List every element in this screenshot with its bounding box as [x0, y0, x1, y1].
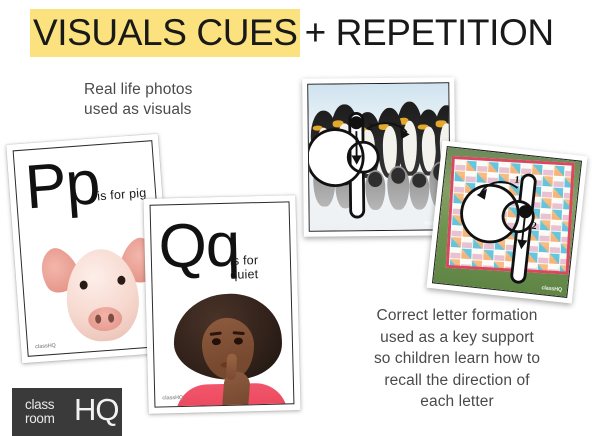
poster-phrase-pp: is for pig: [97, 186, 147, 204]
pig-nostril-right: [108, 313, 115, 322]
penguin-beak: [436, 121, 446, 127]
logo-line-class: class: [25, 398, 77, 412]
penguin-chick: [387, 166, 409, 210]
child-eye-right: [234, 338, 243, 345]
quilt-scene: [433, 147, 581, 297]
penguin-beak: [356, 127, 367, 133]
patchwork-quilt: [446, 156, 575, 274]
child-brow-right: [233, 331, 245, 335]
quiet-child-photo: [159, 290, 295, 408]
letter-formation-card-q[interactable]: 1 2 classHQ: [426, 141, 587, 304]
penguin-chick: [313, 162, 335, 206]
stroke-number-2-p: 2: [368, 122, 373, 133]
poster-letter-qq: Qq: [158, 210, 240, 284]
penguin-beak: [418, 124, 428, 130]
penguin-beak: [378, 123, 389, 129]
poster-phrase-qq: is for quiet: [230, 252, 291, 281]
stroke-number-1-p: 1: [355, 136, 360, 147]
child-eye-left: [212, 338, 221, 345]
slide-canvas: VISUALS CUES+ REPETITION Real life photo…: [0, 0, 600, 436]
penguin-chick: [365, 170, 385, 210]
child-brow-left: [210, 331, 222, 336]
title-rest-text: + REPETITION: [300, 12, 554, 53]
penguin-chick: [335, 168, 355, 208]
slide-title: VISUALS CUES+ REPETITION: [30, 11, 590, 59]
penguin-scene: [308, 83, 450, 230]
poster-letter-pp: Pp: [23, 147, 102, 224]
caption-right: Correct letter formation used as a key s…: [326, 305, 588, 413]
logo-line-room: room: [25, 412, 77, 426]
caption-left: Real life photos used as visuals: [84, 80, 294, 120]
pig-nostril-left: [95, 314, 102, 323]
penguin-beak: [332, 121, 344, 128]
logo-hq-mark: HQ: [74, 393, 119, 426]
child-shush-finger: [226, 354, 237, 380]
poster-inner-frame: Qq is for quiet classHQ: [150, 201, 295, 407]
quilt-grid: [449, 160, 572, 272]
penguin-beak: [312, 125, 323, 131]
penguin-chick: [409, 171, 429, 209]
poster-watermark-qq: classHQ: [162, 395, 183, 402]
alphabet-poster-qq[interactable]: Qq is for quiet classHQ: [143, 195, 300, 414]
penguin-photo: 1 2 classHQ: [307, 82, 451, 231]
quilt-photo: 1 2 classHQ: [432, 146, 582, 298]
title-highlighted-text: VISUALS CUES: [30, 9, 300, 57]
letter-formation-card-p[interactable]: 1 2 classHQ: [302, 77, 456, 237]
classroomhq-logo[interactable]: class room HQ: [12, 388, 122, 436]
logo-wordmark: class room: [25, 398, 77, 426]
